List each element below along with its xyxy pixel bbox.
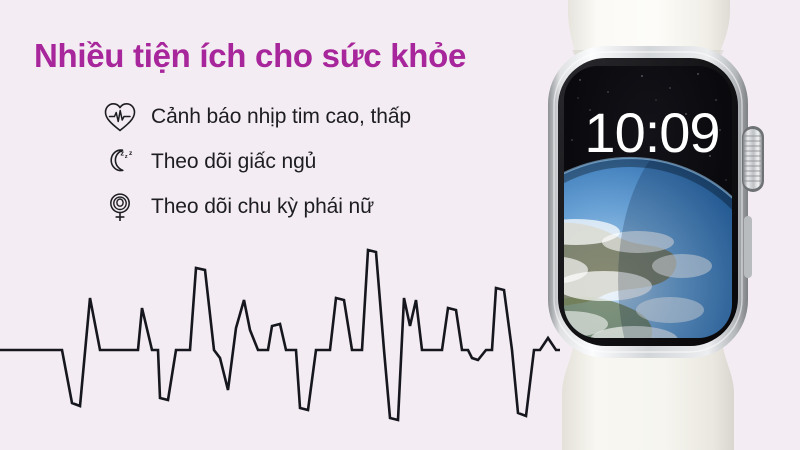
- feature-label: Theo dõi giấc ngủ: [151, 150, 316, 174]
- feature-label: Theo dõi chu kỳ phái nữ: [151, 195, 374, 219]
- heartbeat-waveform-line: [0, 250, 560, 420]
- page-title: Nhiều tiện ích cho sức khỏe: [34, 38, 466, 74]
- digital-crown[interactable]: [742, 126, 764, 192]
- venus-female-icon: [100, 188, 140, 226]
- feature-label: Cảnh báo nhịp tim cao, thấp: [151, 105, 411, 129]
- side-button[interactable]: [744, 216, 752, 278]
- feature-item-cycle-tracking: Theo dõi chu kỳ phái nữ: [100, 184, 520, 229]
- svg-text:z: z: [120, 148, 124, 157]
- feature-list: Cảnh báo nhịp tim cao, thấp z z z Theo d…: [100, 94, 520, 229]
- heart-pulse-icon: [100, 98, 140, 136]
- watch-time-display: 10:09: [584, 101, 719, 164]
- svg-text:z: z: [125, 154, 128, 160]
- heartbeat-waveform: [0, 238, 560, 428]
- promo-banner: Nhiều tiện ích cho sức khỏe Cảnh báo nhị…: [0, 0, 800, 450]
- feature-item-sleep-tracking: z z z Theo dõi giấc ngủ: [100, 139, 520, 184]
- feature-item-heart-rate: Cảnh báo nhịp tim cao, thấp: [100, 94, 520, 139]
- moon-sleep-icon: z z z: [100, 143, 140, 181]
- svg-text:z: z: [129, 150, 133, 157]
- apple-watch-se: 10:09: [520, 0, 800, 450]
